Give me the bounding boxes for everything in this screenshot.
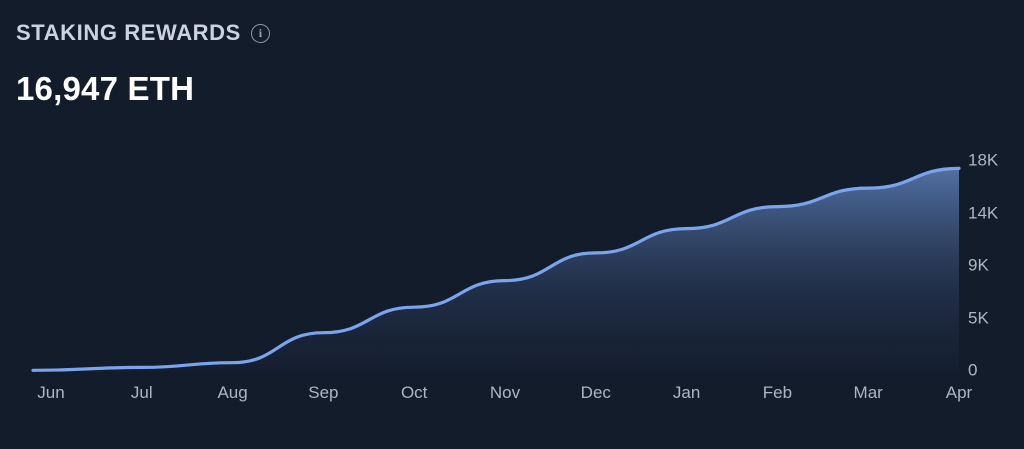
- y-axis-tick: 14K: [968, 204, 998, 221]
- x-axis-tick: Oct: [401, 384, 427, 401]
- staking-rewards-chart[interactable]: [0, 140, 1024, 390]
- card-header: STAKING REWARDS i: [16, 18, 270, 48]
- info-icon[interactable]: i: [251, 24, 270, 43]
- y-axis-tick: 18K: [968, 152, 998, 169]
- area-chart-svg: [0, 140, 1024, 390]
- x-axis-tick: Jan: [673, 384, 700, 401]
- staking-rewards-value: 16,947 ETH: [16, 72, 194, 105]
- x-axis: JunJulAugSepOctNovDecJanFebMarApr: [0, 384, 1024, 410]
- x-axis-tick: Sep: [308, 384, 338, 401]
- y-axis-tick: 0: [968, 362, 977, 379]
- page-title: STAKING REWARDS: [16, 22, 241, 44]
- x-axis-tick: Nov: [490, 384, 520, 401]
- x-axis-tick: Dec: [581, 384, 611, 401]
- x-axis-tick: Mar: [854, 384, 883, 401]
- x-axis-tick: Jul: [131, 384, 153, 401]
- y-axis-tick: 9K: [968, 257, 989, 274]
- info-icon-glyph: i: [259, 27, 262, 39]
- x-axis-tick: Feb: [763, 384, 792, 401]
- x-axis-tick: Jun: [37, 384, 64, 401]
- staking-rewards-card: STAKING REWARDS i 16,947 ETH 18K14K9K5K: [0, 0, 1024, 449]
- x-axis-tick: Aug: [217, 384, 247, 401]
- y-axis-tick: 5K: [968, 309, 989, 326]
- x-axis-tick: Apr: [946, 384, 972, 401]
- y-axis: 18K14K9K5K0: [968, 140, 1024, 390]
